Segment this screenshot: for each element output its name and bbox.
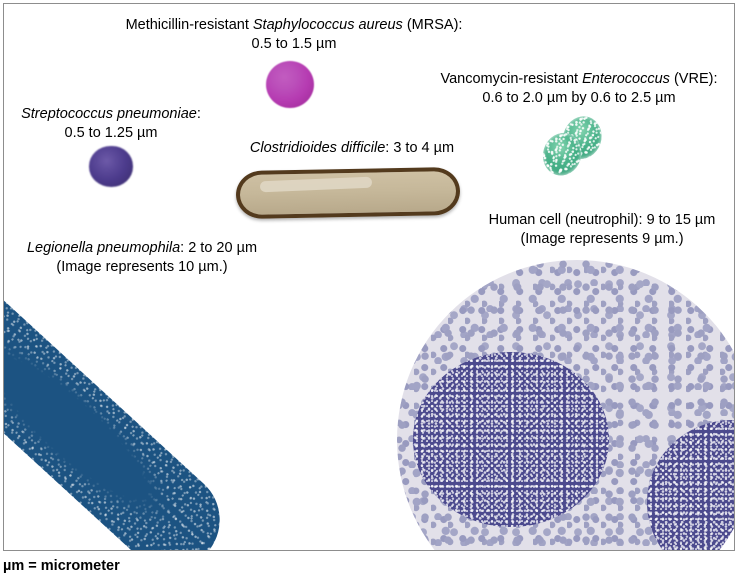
legionella-rod-shape: [3, 267, 240, 551]
neutrophil-label: Human cell (neutrophil): 9 to 15 µm (Ima…: [466, 211, 735, 249]
cdiff-label: Clostridioides difficile: 3 to 4 µm: [232, 139, 472, 158]
mrsa-size-text: 0.5 to 1.5 µm: [84, 35, 504, 54]
neutrophil-cytoplasm: [397, 260, 735, 551]
legionella-name-suffix: : 2 to 20 µm: [180, 240, 257, 256]
legionella-label: Legionella pneumophila: 2 to 20 µm (Imag…: [11, 239, 273, 277]
vre-species-name: Enterococcus: [582, 71, 670, 87]
vre-label: Vancomycin-resistant Enterococcus (VRE):…: [424, 70, 734, 108]
neutrophil-name-line: Human cell (neutrophil): 9 to 15 µm: [466, 211, 735, 230]
strep-name-suffix: :: [197, 106, 201, 122]
size-comparison-figure: Methicillin-resistant Staphylococcus aur…: [0, 0, 740, 583]
mrsa-species-name: Staphylococcus aureus: [253, 17, 403, 33]
vre-name-prefix: Vancomycin-resistant: [441, 71, 583, 87]
cdiff-rod-shape: [236, 169, 460, 217]
footnote-micrometer-key: µm = micrometer: [3, 558, 120, 574]
mrsa-name-prefix: Methicillin-resistant: [126, 17, 253, 33]
vre-size-text: 0.6 to 2.0 µm by 0.6 to 2.5 µm: [424, 89, 734, 108]
mrsa-name-line: Methicillin-resistant Staphylococcus aur…: [84, 16, 504, 35]
strep-name-line: Streptococcus pneumoniae:: [11, 105, 211, 124]
cdiff-species-name: Clostridioides difficile: [250, 140, 385, 156]
neutrophil-cell-shape: [397, 260, 735, 551]
figure-canvas: Methicillin-resistant Staphylococcus aur…: [3, 3, 735, 551]
mrsa-name-suffix: (MRSA):: [403, 17, 463, 33]
vre-diplococcus-shape: [537, 107, 611, 187]
cdiff-name-line: Clostridioides difficile: 3 to 4 µm: [232, 139, 472, 158]
strep-species-name: Streptococcus pneumoniae: [21, 106, 197, 122]
vre-name-suffix: (VRE):: [670, 71, 718, 87]
legionella-rod-body: [3, 267, 240, 551]
vre-name-line: Vancomycin-resistant Enterococcus (VRE):: [424, 70, 734, 89]
strep-coccus-shape: [89, 146, 133, 187]
mrsa-coccus-shape: [266, 61, 314, 108]
cdiff-rod-body: [236, 167, 461, 219]
legionella-name-line: Legionella pneumophila: 2 to 20 µm: [11, 239, 273, 258]
mrsa-label: Methicillin-resistant Staphylococcus aur…: [84, 16, 504, 54]
neutrophil-nucleus-lobe-primary: [413, 352, 609, 527]
cdiff-name-suffix: : 3 to 4 µm: [385, 140, 454, 156]
neutrophil-note: (Image represents 9 µm.): [466, 230, 735, 249]
legionella-note: (Image represents 10 µm.): [11, 258, 273, 277]
strep-label: Streptococcus pneumoniae: 0.5 to 1.25 µm: [11, 105, 211, 143]
strep-size-text: 0.5 to 1.25 µm: [11, 124, 211, 143]
legionella-species-name: Legionella pneumophila: [27, 240, 180, 256]
